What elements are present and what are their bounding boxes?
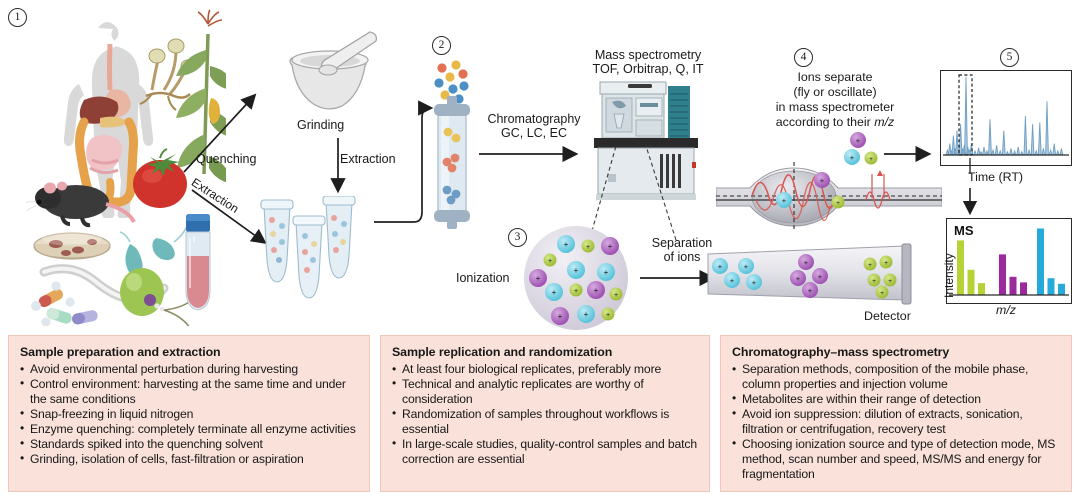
svg-text:+: + — [744, 262, 749, 271]
svg-text:+: + — [558, 312, 563, 321]
svg-text:+: + — [836, 200, 840, 207]
ms-bar — [1020, 282, 1027, 295]
ions-separate-line3: in mass spectrometer — [776, 100, 894, 114]
svg-text:+: + — [850, 153, 855, 162]
info-bullet: Randomization of samples throughout work… — [392, 407, 699, 437]
info-bullet: Separation methods, composition of the m… — [732, 362, 1061, 392]
ions-separate-line2: (fly or oscillate) — [793, 85, 876, 99]
label-ionization: Ionization — [456, 271, 510, 285]
chromatogram-to-ms-arrow — [962, 158, 980, 220]
ms-bar — [1058, 284, 1065, 295]
svg-text:+: + — [820, 176, 825, 185]
ms-bar — [978, 283, 985, 295]
svg-text:+: + — [604, 268, 609, 277]
info-bullet: Snap-freezing in liquid nitrogen — [20, 407, 359, 422]
step-number-1: 1 — [8, 8, 27, 27]
svg-text:+: + — [594, 286, 599, 295]
step-number-5: 5 — [1000, 48, 1019, 67]
ions-separate-line1: Ions separate — [797, 70, 872, 84]
ion-flight-tube-detector-icon: + + + + + + + + + + + + + — [706, 242, 930, 312]
info-bullet: Metabolites are within their range of de… — [732, 392, 1061, 407]
ms-bar — [999, 254, 1006, 295]
info-bullet: Standards spiked into the quenching solv… — [20, 437, 359, 452]
bacteria-icon — [120, 228, 186, 275]
label-quenching: Quenching — [196, 152, 256, 166]
info-bullet: Avoid ion suppression: dilution of extra… — [732, 407, 1061, 437]
chromatogram-trace — [943, 77, 1069, 155]
label-chromatography: Chromatography GC, LC, EC — [479, 112, 589, 140]
chromatogram-plot — [941, 71, 1071, 165]
info-box-sample-preparation: Sample preparation and extraction Avoid … — [8, 335, 370, 492]
info-box-sample-replication: Sample replication and randomization At … — [380, 335, 710, 492]
svg-text:+: + — [782, 196, 787, 205]
svg-text:+: + — [869, 156, 873, 163]
info-box-title: Sample preparation and extraction — [20, 345, 359, 359]
svg-text:+: + — [586, 244, 590, 251]
info-box-chromatography-ms: Chromatography–mass spectrometry Separat… — [720, 335, 1072, 492]
ms-bar — [968, 270, 975, 295]
petri-dish-icon — [34, 230, 110, 259]
pills-capsules-icon — [31, 281, 99, 326]
tubes-to-column-connector — [374, 100, 438, 230]
axis-label-mz: m/z — [996, 303, 1016, 317]
svg-text:+: + — [608, 242, 613, 251]
svg-text:+: + — [552, 288, 557, 297]
chromatography-column-icon — [430, 58, 476, 230]
svg-text:+: + — [856, 136, 861, 145]
label-grinding: Grinding — [297, 118, 344, 132]
info-bullet: Choosing ionization source and type of d… — [732, 437, 1061, 482]
svg-text:+: + — [606, 312, 610, 319]
info-bullet: Grinding, isolation of cells, fast-filtr… — [20, 452, 359, 467]
svg-text:+: + — [564, 240, 569, 249]
algae-cell-icon — [120, 268, 194, 326]
ms-panel-title: MS — [954, 223, 974, 238]
ion-analyzer-orbitrap-icon: + + + — [716, 160, 942, 236]
label-ions-separate: Ions separate (fly or oscillate) in mass… — [735, 70, 935, 130]
svg-text:+: + — [718, 262, 723, 271]
tomato-icon — [133, 149, 187, 208]
ms-bar — [1010, 277, 1017, 295]
info-box-bullets: At least four biological replicates, pre… — [392, 362, 699, 467]
separation-line1: Separation — [652, 236, 712, 250]
mass-spec-line1: Mass spectrometry — [595, 48, 701, 62]
sample-tubes-icon — [256, 196, 376, 306]
info-box-title: Chromatography–mass spectrometry — [732, 345, 1061, 359]
ms-spectrum-panel: MS — [946, 218, 1072, 304]
svg-text:+: + — [548, 258, 552, 265]
step-number-2: 2 — [432, 36, 451, 55]
ions-separate-line4: according to their — [776, 115, 875, 129]
extraction-down-arrow — [330, 138, 350, 200]
svg-text:+: + — [752, 278, 757, 287]
mortar-and-pestle-icon — [278, 30, 388, 116]
svg-text:+: + — [804, 258, 809, 267]
svg-text:+: + — [536, 274, 541, 283]
svg-text:+: + — [872, 278, 876, 285]
ionization-sphere-icon: + + + + + + + + + + + + + + — [520, 222, 636, 334]
info-box-title: Sample replication and randomization — [392, 345, 699, 359]
svg-text:+: + — [574, 288, 578, 295]
step-number-4: 4 — [794, 48, 813, 67]
separation-line2: of ions — [664, 250, 701, 264]
info-bullet: Enzyme quenching: completely terminate a… — [20, 422, 359, 437]
svg-text:+: + — [888, 278, 892, 285]
ions-to-chromatogram-arrow — [884, 148, 940, 162]
svg-text:+: + — [584, 310, 589, 319]
svg-text:+: + — [884, 260, 888, 267]
info-bullet: In large-scale studies, quality-control … — [392, 437, 699, 467]
ms-bar — [957, 240, 964, 295]
chromatogram-panel — [940, 70, 1072, 166]
ms-bar — [1037, 229, 1044, 296]
ions-separate-mz: m/z — [874, 115, 894, 129]
info-bullet: Technical and analytic replicates are wo… — [392, 377, 699, 407]
svg-text:+: + — [730, 276, 735, 285]
mass-spec-line2: TOF, Orbitrap, Q, IT — [592, 62, 703, 76]
ms-bar — [1048, 278, 1055, 295]
guidance-boxes: Sample preparation and extraction Avoid … — [0, 330, 1080, 495]
figure-canvas: 1 — [0, 0, 1080, 495]
info-box-bullets: Separation methods, composition of the m… — [732, 362, 1061, 482]
chromatography-line2: GC, LC, EC — [501, 126, 567, 140]
svg-text:+: + — [818, 272, 823, 281]
chromatography-line1: Chromatography — [487, 112, 580, 126]
info-box-bullets: Avoid environmental perturbation during … — [20, 362, 359, 467]
axis-label-intensity: Intensity — [942, 253, 956, 298]
svg-text:+: + — [880, 290, 884, 297]
svg-text:+: + — [796, 274, 801, 283]
svg-text:+: + — [808, 286, 813, 295]
svg-text:+: + — [574, 266, 579, 275]
info-bullet: Control environment: harvesting at the s… — [20, 377, 359, 407]
svg-text:+: + — [868, 262, 872, 269]
svg-text:+: + — [614, 292, 618, 299]
info-bullet: At least four biological replicates, pre… — [392, 362, 699, 377]
label-mass-spectrometry: Mass spectrometry TOF, Orbitrap, Q, IT — [558, 48, 738, 76]
info-bullet: Avoid environmental perturbation during … — [20, 362, 359, 377]
label-detector: Detector — [864, 310, 911, 324]
